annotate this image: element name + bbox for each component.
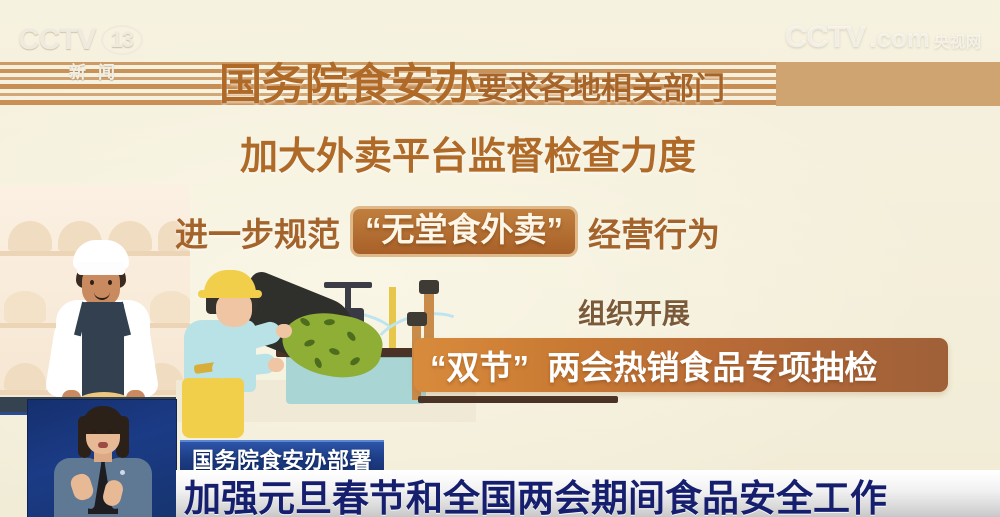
channel-logo: CCTV 13 新闻 <box>18 24 168 82</box>
lower-third-title-text: 加强元旦春节和全国两会期间食品安全工作 <box>176 468 887 517</box>
watermark-cn-text: 央视网 <box>934 35 982 50</box>
channel-subtitle: 新闻 <box>18 58 168 83</box>
decorative-beam <box>418 396 618 403</box>
cctv-logo-icon: CCTV 13 <box>18 24 168 56</box>
watermark-com-text: .com <box>869 25 930 52</box>
sign-language-interpreter-window <box>27 399 177 517</box>
bakery-illustration <box>0 185 190 415</box>
cctv-com-watermark: CCTV .com 央视网 <box>785 22 982 52</box>
decorative-pipe-cap <box>407 312 427 326</box>
channel-number: 13 <box>101 25 143 55</box>
watermark-cctv-text: CCTV <box>785 22 865 52</box>
broadcast-screen: CCTV 13 新闻 CCTV .com 央视网 <box>0 0 1000 517</box>
lower-third-title-bar: 加强元旦春节和全国两会期间食品安全工作 <box>176 470 1000 517</box>
headline-banner-text-b: 两会热销食品专项抽检 <box>547 341 877 389</box>
headline-banner: “双节” 两会热销食品专项抽检 <box>414 338 948 392</box>
baker-character <box>48 240 158 415</box>
factory-worker-character <box>176 270 286 420</box>
headline-banner-text-a: “双节” <box>430 341 529 389</box>
tan-accent-block <box>776 62 1000 106</box>
cctv-logo-text: CCTV <box>18 24 96 56</box>
